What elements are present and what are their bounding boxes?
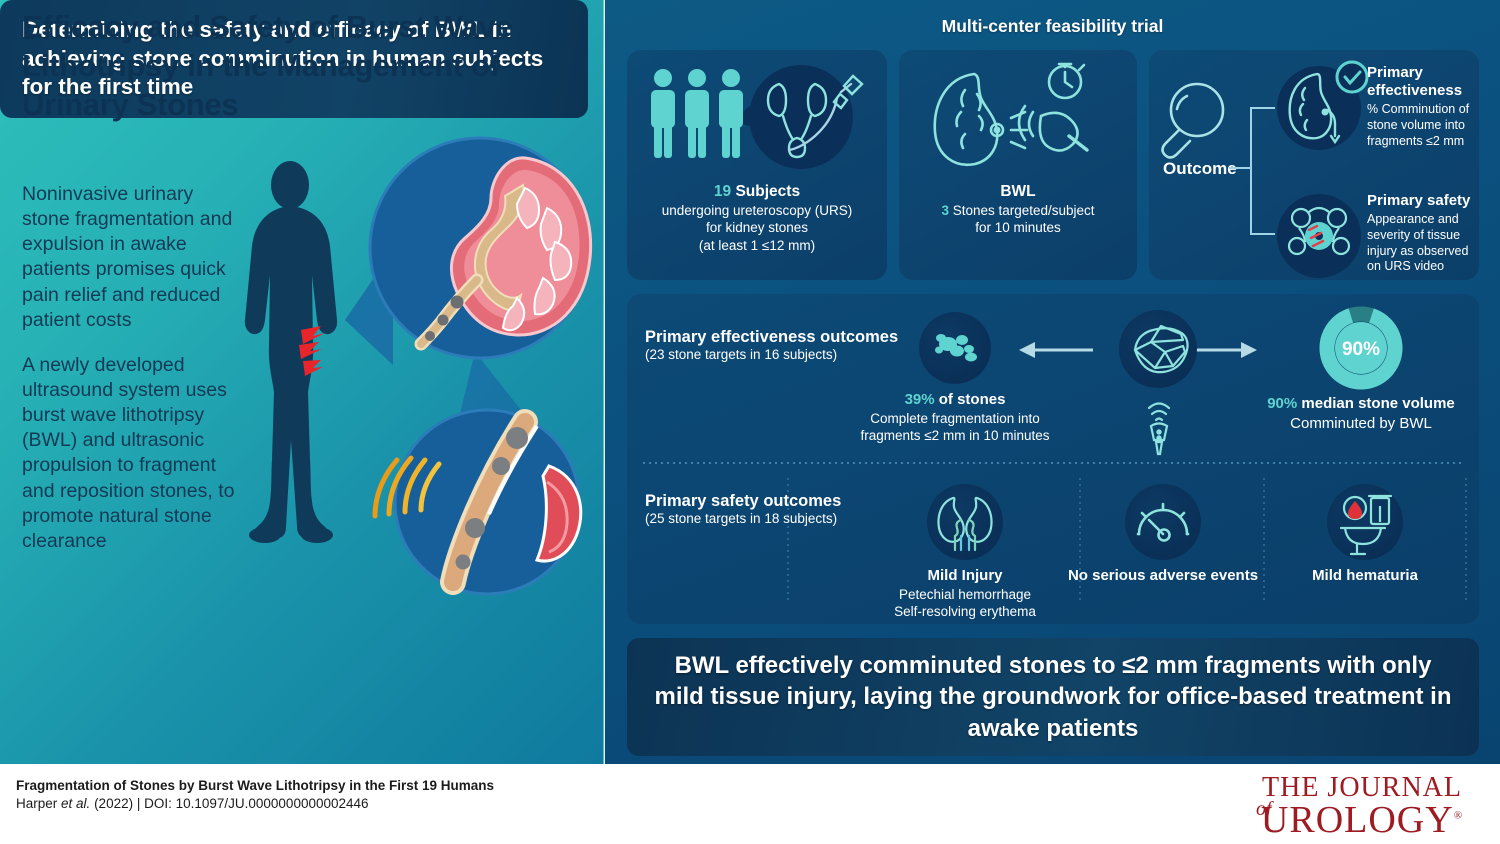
effectiveness-row-sub: (23 stone targets in 16 subjects) (645, 347, 898, 362)
median-volume-label: median stone volume (1297, 395, 1455, 412)
human-silhouette-icon (245, 161, 337, 543)
summary-paragraph-2: A newly developed ultrasound system uses… (22, 353, 242, 554)
fragmentation-line-1: Complete fragmentation into (845, 410, 1065, 428)
mild-hematuria-title: Mild hematuria (1255, 566, 1475, 586)
right-panel: Multi-center feasibility trial (605, 0, 1500, 764)
subjects-kidney-scope-icon (641, 62, 871, 172)
kidneys-icon (927, 484, 1003, 560)
outcome-label: Outcome (1163, 159, 1237, 178)
primary-effectiveness-title: Primary effectiveness (1367, 64, 1473, 100)
mild-injury-title: Mild Injury (855, 566, 1075, 586)
subjects-line-1: undergoing ureteroscopy (URS) (627, 202, 887, 219)
card-subjects-caption: 19 Subjects undergoing ureteroscopy (URS… (627, 182, 887, 254)
median-volume-percent: 90% (1267, 395, 1297, 412)
footer: Fragmentation of Stones by Burst Wave Li… (0, 764, 1500, 844)
kidneys-circle (927, 484, 1003, 560)
infographic-page: Efficacy and Safety of Burst Wave Lithot… (0, 0, 1500, 844)
page-title: Efficacy and Safety of Burst Wave Lithot… (22, 8, 562, 124)
authors: Harper (16, 796, 57, 811)
mild-hematuria-caption: Mild hematuria (1255, 566, 1475, 586)
subjects-count: 19 (714, 183, 731, 200)
summary-paragraph-1: Noninvasive urinary stone fragmentation … (22, 182, 242, 333)
registered-mark: ® (1454, 809, 1463, 821)
safety-row-sub: (25 stone targets in 18 subjects) (645, 511, 841, 526)
mild-injury-caption: Mild Injury Petechial hemorrhage Self-re… (855, 566, 1075, 621)
toilet-blood-drop-icon (1327, 484, 1403, 560)
effectiveness-right-caption: 90% median stone volume Comminuted by BW… (1251, 394, 1471, 433)
toilet-circle (1327, 484, 1403, 560)
stone-fragments-circle (919, 312, 991, 384)
subjects-line-3: (at least 1 ≤12 mm) (627, 237, 887, 254)
card-outcome: Outcome (1149, 50, 1479, 280)
check-badge (1337, 62, 1367, 92)
primary-effectiveness-desc: % Comminution of stone volume into fragm… (1367, 102, 1473, 149)
journal-logo: of THE JOURNAL UROLOGY® (1242, 772, 1482, 836)
magnifier-icon (1163, 84, 1224, 158)
card-bwl: BWL 3 Stones targeted/subject for 10 min… (899, 50, 1137, 280)
right-panel-heading: Multi-center feasibility trial (605, 16, 1500, 37)
primary-safety-title: Primary safety (1367, 192, 1475, 210)
ultrasound-transducer-icon (1141, 394, 1177, 456)
fragmentation-percent-label: of stones (935, 391, 1006, 408)
primary-safety-desc: Appearance and severity of tissue injury… (1367, 212, 1475, 275)
card-subjects: 19 Subjects undergoing ureteroscopy (URS… (627, 50, 887, 280)
left-panel: Efficacy and Safety of Burst Wave Lithot… (0, 0, 604, 764)
primary-safety-block: Primary safety Appearance and severity o… (1367, 192, 1475, 275)
fragmentation-line-2: fragments ≤2 mm in 10 minutes (845, 427, 1065, 445)
fragmentation-percent: 39% (905, 391, 935, 408)
mild-injury-line-2: Self-resolving erythema (855, 603, 1075, 621)
row-divider (641, 462, 1465, 464)
safety-row-header: Primary safety outcomes (25 stone target… (645, 492, 841, 526)
kidney-transducer-timer-icon (919, 60, 1119, 175)
arrow-left-icon (1019, 340, 1093, 360)
median-volume-line-2: Comminuted by BWL (1251, 414, 1471, 434)
bwl-title: BWL (899, 182, 1137, 202)
whole-stone-circle (1119, 310, 1197, 388)
citation-rest: (2022) | DOI: 10.1097/JU.000000000000244… (90, 796, 368, 811)
gauge-circle (1125, 484, 1201, 560)
subjects-line-2: for kidney stones (627, 219, 887, 236)
whole-stone-icon (1119, 310, 1197, 388)
donut-label: 90% (1342, 339, 1380, 360)
bwl-duration: for 10 minutes (899, 219, 1137, 236)
conclusion-banner-text: BWL effectively comminuted stones to ≤2 … (627, 650, 1479, 744)
effectiveness-row-header: Primary effectiveness outcomes (23 stone… (645, 328, 898, 362)
primary-effectiveness-block: Primary effectiveness % Comminution of s… (1367, 64, 1473, 149)
citation: Fragmentation of Stones by Burst Wave Li… (16, 778, 494, 811)
logo-line-2: UROLOGY® (1242, 798, 1482, 842)
illustration-svg (225, 130, 604, 630)
article-title: Fragmentation of Stones by Burst Wave Li… (16, 778, 494, 793)
citation-details: Harper et al. (2022) | DOI: 10.1097/JU.0… (16, 796, 494, 811)
mild-injury-line-1: Petechial hemorrhage (855, 586, 1075, 604)
safety-row-title: Primary safety outcomes (645, 492, 841, 511)
anatomy-illustration (225, 130, 604, 630)
effectiveness-left-caption: 39% of stones Complete fragmentation int… (845, 390, 1065, 445)
logo-of: of (1256, 798, 1272, 821)
et-al: et al. (61, 796, 90, 811)
subjects-label: Subjects (731, 183, 800, 200)
study-summary: Noninvasive urinary stone fragmentation … (22, 182, 242, 554)
gauge-icon (1125, 484, 1201, 560)
card-bwl-caption: BWL 3 Stones targeted/subject for 10 min… (899, 182, 1137, 237)
effectiveness-row-title: Primary effectiveness outcomes (645, 328, 898, 347)
no-adverse-events-caption: No serious adverse events (1053, 566, 1273, 586)
bwl-stones-label: Stones targeted/subject (949, 203, 1095, 218)
donut-chart-90: 90% (1319, 306, 1403, 390)
stone-fragments-icon (919, 312, 991, 384)
bwl-stones-count: 3 (941, 203, 949, 218)
no-adverse-events-title: No serious adverse events (1053, 566, 1273, 586)
conclusion-banner: BWL effectively comminuted stones to ≤2 … (627, 638, 1479, 756)
outcomes-card: Primary effectiveness outcomes (23 stone… (627, 294, 1479, 624)
